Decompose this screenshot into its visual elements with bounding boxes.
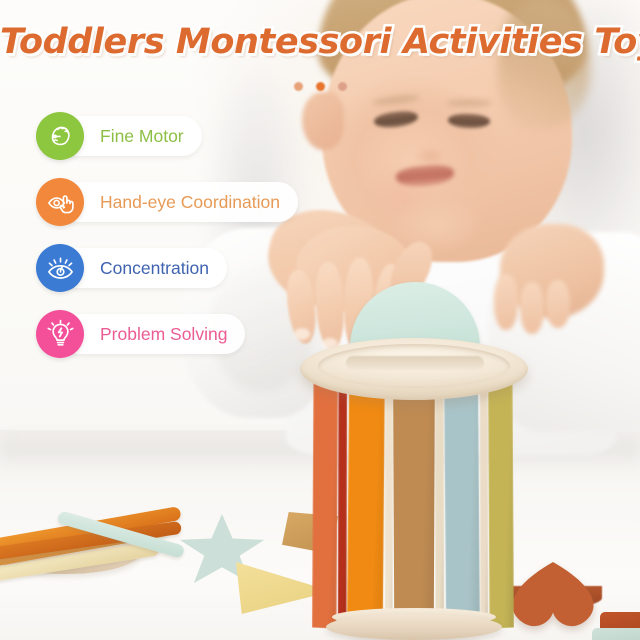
feature-label: Fine Motor <box>100 126 184 147</box>
feature-pill: Problem Solving <box>58 314 245 354</box>
dot-1 <box>294 82 303 91</box>
product-lifestyle-banner: Toddlers Montessori Activities Toy Fine … <box>0 0 640 640</box>
feature-badge-problem-solving[interactable]: Problem Solving <box>36 310 84 358</box>
slat-olive <box>488 359 514 628</box>
toddler-nose <box>412 138 448 164</box>
dot-3 <box>338 82 347 91</box>
cup-body-slats <box>302 360 526 628</box>
slat-tan <box>393 360 435 628</box>
slat-cream <box>385 360 393 628</box>
eye-focus-icon <box>36 244 84 292</box>
title-dot-separator <box>0 82 640 91</box>
page-title: Toddlers Montessori Activities Toy <box>0 22 640 62</box>
cup-lid-slot <box>346 356 484 370</box>
slat-coral <box>312 359 338 628</box>
slat-darkred <box>338 360 347 628</box>
toddler-right-hand <box>490 218 620 338</box>
toddler-ear <box>302 92 344 150</box>
lightbulb-bolt-icon <box>36 310 84 358</box>
feature-pill: Hand-eye Coordination <box>58 182 298 222</box>
right-hand-finger-1 <box>494 274 518 330</box>
eye-pointing-hand-icon <box>36 178 84 226</box>
slat-bluegrey <box>444 360 480 629</box>
toddler-hair-side <box>498 0 590 130</box>
right-hand-finger-2 <box>520 282 544 334</box>
feature-label: Concentration <box>100 258 209 279</box>
feature-label: Problem Solving <box>100 324 227 345</box>
banner-title-wrap: Toddlers Montessori Activities Toy <box>0 22 640 62</box>
wooden-shape-sorter-cup <box>302 336 526 636</box>
right-hand-finger-3 <box>546 280 570 328</box>
cup-base-ring <box>326 614 502 640</box>
toddler-eyebrow-right <box>446 99 492 107</box>
slat-cream-2 <box>435 360 444 628</box>
feature-badge-hand-eye-coordination[interactable]: Hand-eye Coordination <box>36 178 84 226</box>
slat-orange <box>347 360 385 629</box>
cup-lid <box>300 338 528 400</box>
feature-badge-concentration[interactable]: Concentration <box>36 244 84 292</box>
feature-badge-fine-motor[interactable]: Fine Motor <box>36 112 84 160</box>
block-piece-mint <box>592 628 640 640</box>
feature-label: Hand-eye Coordination <box>100 192 280 213</box>
slat-cream-3 <box>480 360 488 628</box>
feature-badge-list: Fine Motor Hand-eye Coordination Concent… <box>36 112 84 358</box>
fist-hand-icon <box>36 112 84 160</box>
dot-2 <box>316 82 325 91</box>
